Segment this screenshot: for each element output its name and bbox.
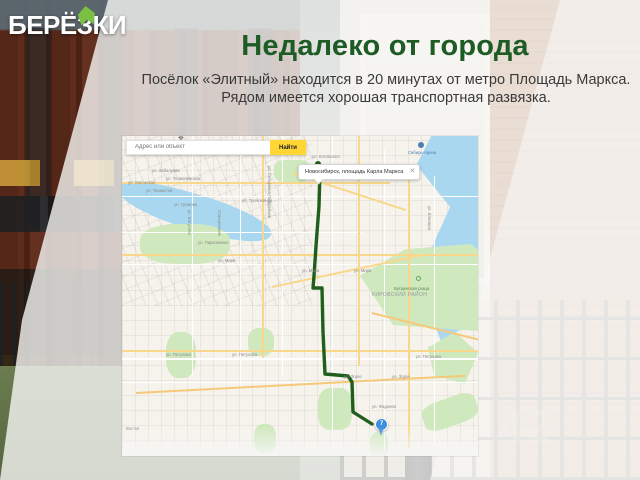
map-label: ул. Громова bbox=[174, 202, 197, 207]
map-label: ул. Петухова bbox=[166, 352, 191, 357]
map-label: ул. Фадеева bbox=[372, 404, 396, 409]
map-label: ул. Ватутина bbox=[187, 210, 192, 235]
map-label: ул. Пархоменко bbox=[198, 240, 229, 245]
map-arterial bbox=[122, 182, 390, 184]
map-street bbox=[122, 264, 478, 265]
search-button[interactable]: Найти bbox=[270, 140, 306, 155]
map-widget[interactable]: ул. Забалуева ул. Танкистов ул. Толмачёв… bbox=[122, 136, 478, 456]
brand-logo-text: БЕРЁЗКИ bbox=[8, 10, 126, 40]
page-title: Недалеко от города bbox=[150, 29, 620, 63]
map-label: ул. Мира bbox=[218, 258, 235, 263]
map-label: ул. Петухова bbox=[232, 352, 257, 357]
search-input[interactable] bbox=[126, 140, 270, 155]
map-search-bar[interactable]: Найти bbox=[126, 140, 306, 155]
map-label: ул. Петухова bbox=[416, 354, 441, 359]
map-park bbox=[254, 424, 276, 454]
page-subtitle: Посёлок «Элитный» находится в 20 минутах… bbox=[140, 72, 632, 107]
map-label: ул. Котовского bbox=[312, 154, 340, 159]
map-street bbox=[122, 196, 478, 197]
cursor-icon: ✥ bbox=[178, 136, 185, 142]
map-poi-label: Бугринская роща bbox=[394, 286, 429, 291]
map-arterial bbox=[262, 136, 264, 358]
map-district-label: КИРОВСКИЙ РАЙОН bbox=[372, 292, 427, 298]
map-label: ул. Мира bbox=[354, 268, 371, 273]
map-balloon[interactable]: Новосибирск, площадь Карла Маркса ✕ bbox=[298, 164, 420, 180]
map-label: ул. Мира bbox=[302, 268, 319, 273]
map-street bbox=[122, 232, 362, 233]
map-label: ул. Зорге bbox=[344, 374, 362, 379]
arena-poi-icon bbox=[418, 142, 424, 148]
map-arterial bbox=[408, 166, 410, 448]
map-label: ул. Сибиряков-Гвардейцев bbox=[267, 166, 272, 218]
map-pin-marker[interactable]: 7 bbox=[375, 418, 388, 436]
map-label: Станционная bbox=[217, 210, 222, 236]
map-street bbox=[332, 136, 333, 436]
map-label: ул. Забалуева bbox=[152, 168, 180, 173]
map-label: ул. Толмачёвская bbox=[166, 176, 200, 181]
map-arterial bbox=[122, 254, 478, 256]
park-poi-icon bbox=[416, 276, 421, 281]
close-icon[interactable]: ✕ bbox=[410, 168, 416, 175]
map-label: ул. Зорге bbox=[392, 374, 410, 379]
slide-root: 42 БЕРЁЗКИ Недалеко от города Посёлок «Э… bbox=[0, 0, 640, 480]
brand-logo[interactable]: БЕРЁЗКИ bbox=[8, 10, 126, 44]
map-street bbox=[434, 176, 435, 446]
map-street bbox=[240, 136, 241, 386]
map-label: ул. Танкистов bbox=[146, 188, 172, 193]
map-pin-label: 7 bbox=[375, 418, 388, 431]
map-poi-label: Сибирь-Арена bbox=[408, 150, 436, 155]
map-balloon-text: Новосибирск, площадь Карла Маркса bbox=[305, 169, 403, 175]
map-label: ул. Хилокская bbox=[128, 180, 155, 185]
map-label: ул. Блюхера bbox=[427, 206, 432, 230]
map-park bbox=[318, 388, 352, 430]
map-label: Восток bbox=[126, 426, 139, 431]
